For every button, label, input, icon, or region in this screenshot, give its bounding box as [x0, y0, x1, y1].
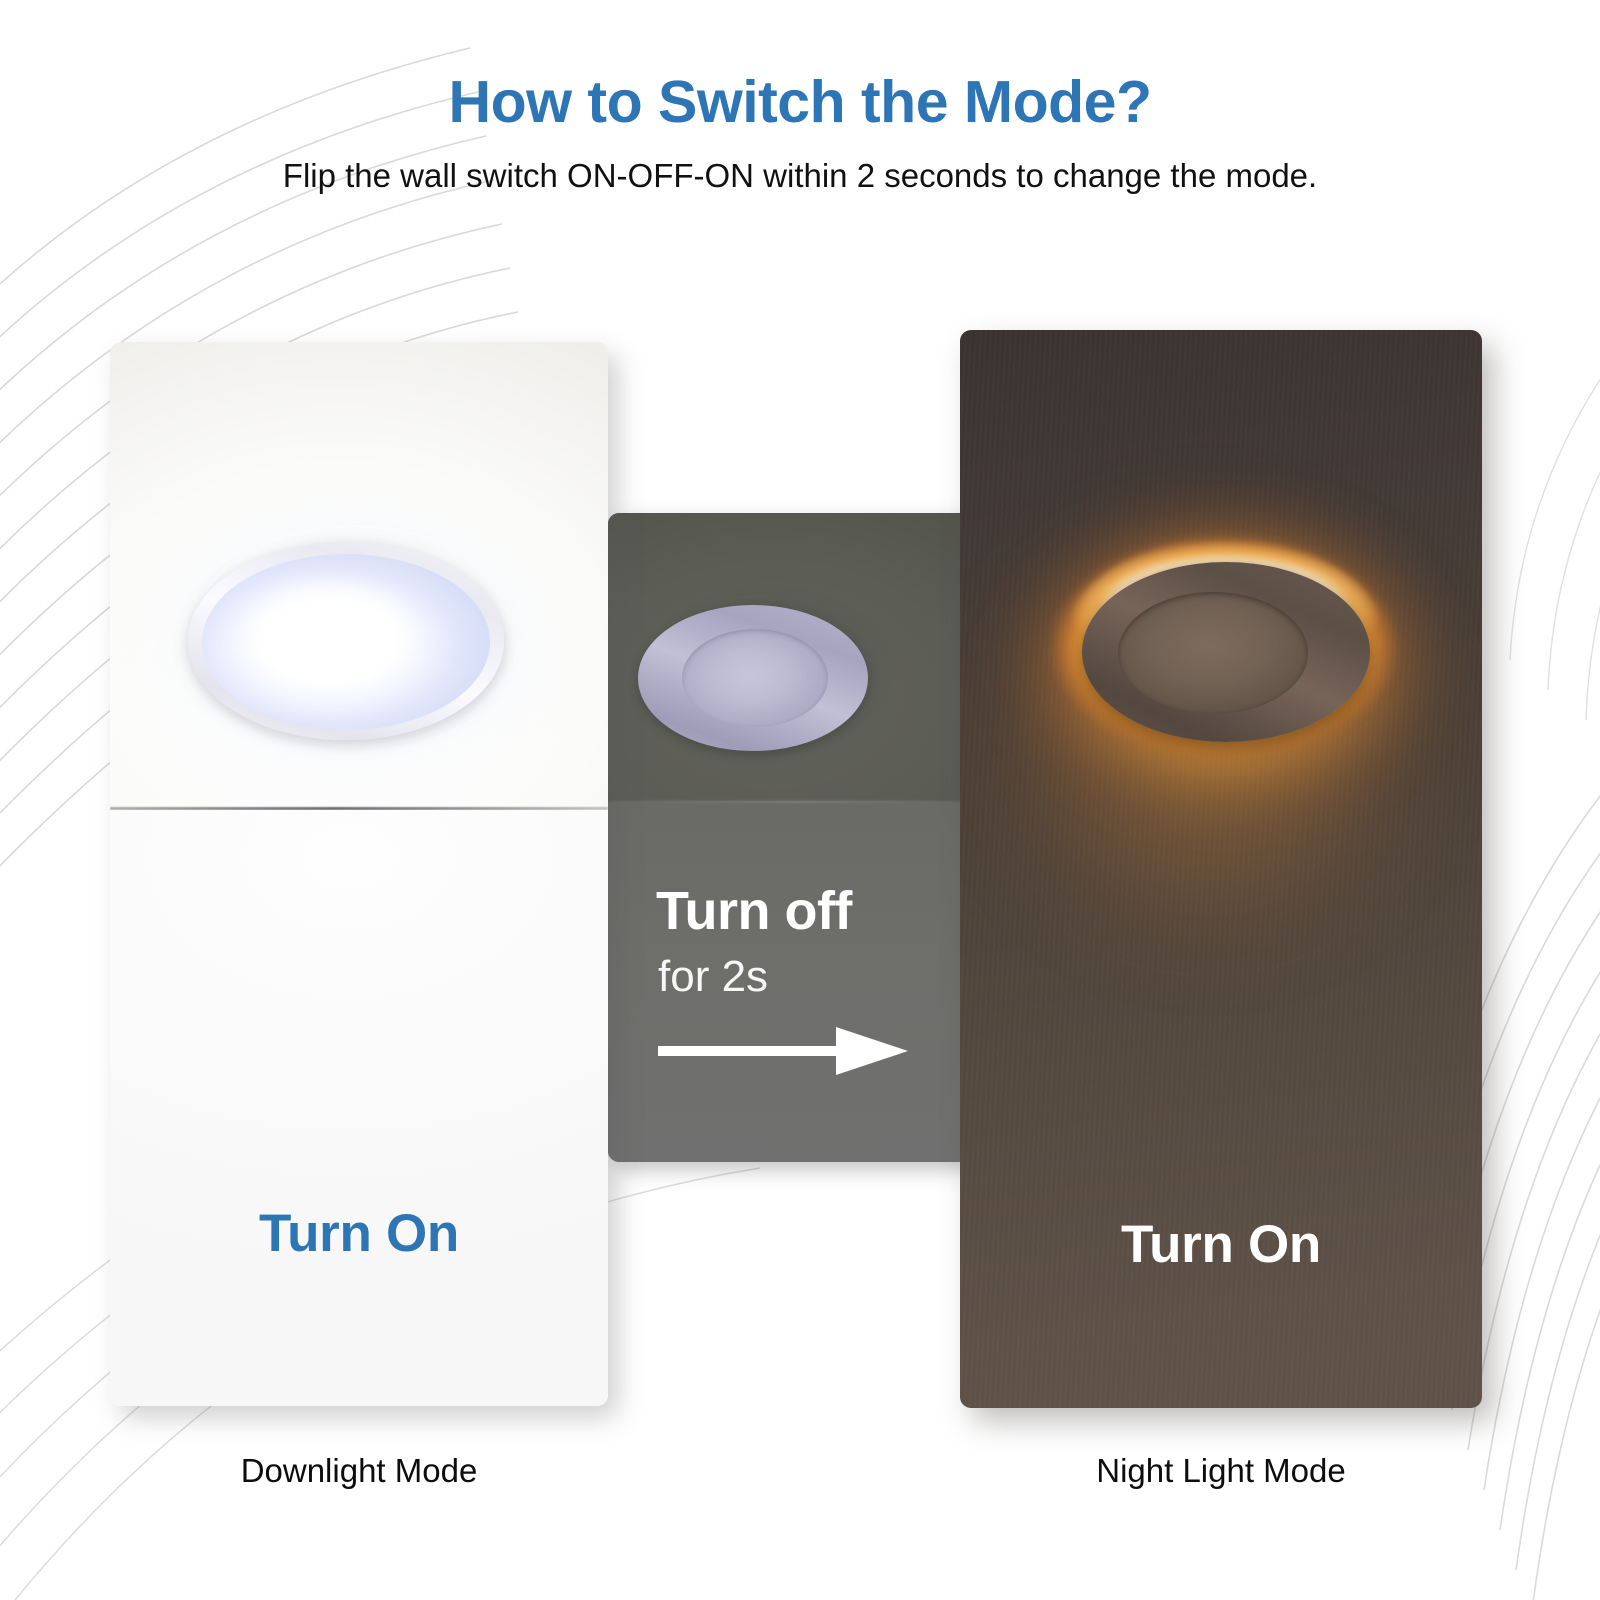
header: How to Switch the Mode? Flip the wall sw…	[0, 0, 1600, 196]
downlight-mode-caption: Downlight Mode	[110, 1452, 608, 1490]
ceiling-downlight-icon	[1052, 530, 1402, 780]
downlight-turn-on-label: Turn On	[110, 1203, 608, 1264]
night-light-mode-caption: Night Light Mode	[960, 1452, 1482, 1490]
nightlight-turn-on-label: Turn On	[960, 1214, 1482, 1275]
light-hotspot	[234, 580, 424, 692]
fixture-diffuser-dark	[1118, 592, 1308, 714]
page-title: How to Switch the Mode?	[0, 72, 1600, 134]
turn-off-step-panel[interactable]: Turn off for 2s	[608, 513, 985, 1162]
ceiling-downlight-icon	[182, 528, 522, 760]
wall-surface	[110, 810, 608, 1406]
fixture-diffuser-off	[682, 629, 828, 727]
turn-off-duration: for 2s	[658, 955, 768, 999]
arrow-right-icon	[658, 1021, 910, 1081]
arc-group-right-top	[1510, 300, 1600, 720]
night-light-mode-panel[interactable]: Turn On	[960, 330, 1482, 1408]
page-subtitle: Flip the wall switch ON-OFF-ON within 2 …	[0, 156, 1600, 196]
turn-off-heading: Turn off	[656, 884, 852, 938]
downlight-mode-panel[interactable]: Turn On	[110, 342, 608, 1406]
ceiling-downlight-icon	[636, 593, 888, 765]
